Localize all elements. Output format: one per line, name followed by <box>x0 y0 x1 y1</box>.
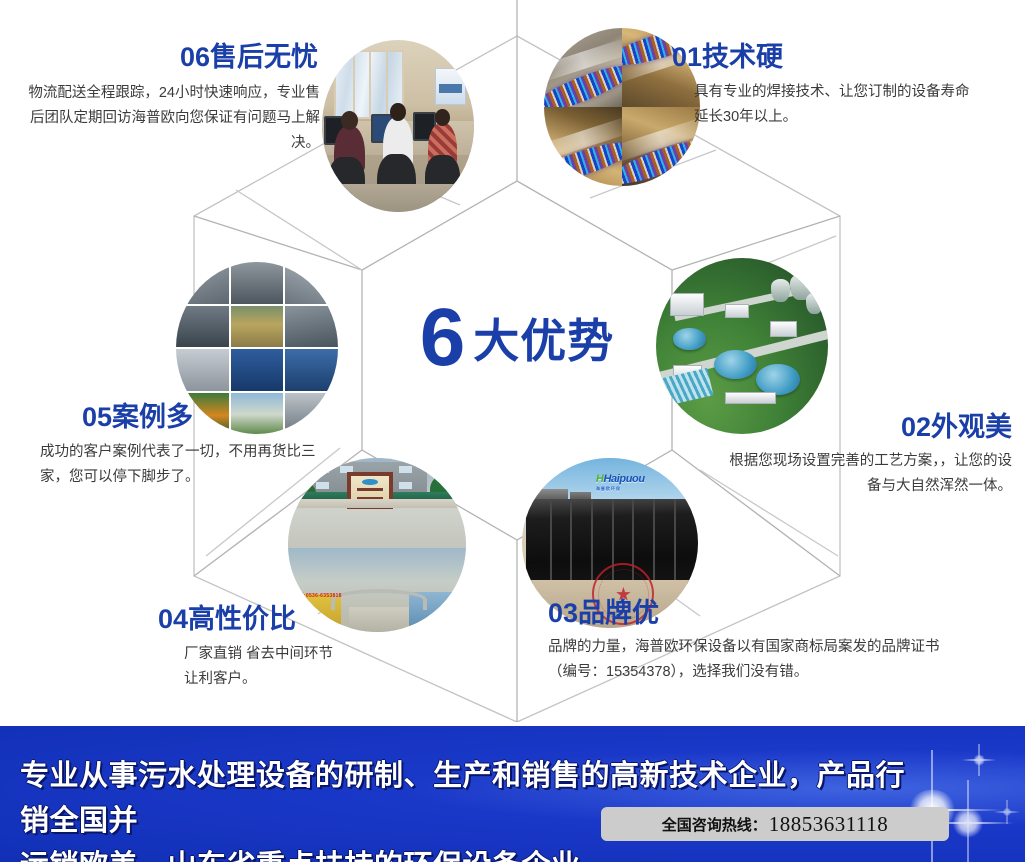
hotline-number: 18853631118 <box>769 812 888 837</box>
hotline-label: 全国咨询热线： <box>662 814 767 835</box>
advantage-06-text: 06售后无忧 物流配送全程跟踪，24小时快速响应，专业售后团队定期回访海普欧向您… <box>28 44 320 156</box>
advantage-01-text: 01技术硬 具有专业的焊接技术、让您订制的设备寿命延长30年以上。 <box>672 44 972 130</box>
advantage-02-text: 02外观美 根据您现场设置完善的工艺方案，，让您的设备与大自然浑然一体。 <box>722 414 1012 499</box>
advantage-05-body: 成功的客户案例代表了一切，不用再货比三家，您可以停下脚步了。 <box>40 440 336 490</box>
hexagon-diagram: HHaipuou 海普欧环保 <box>0 0 1025 722</box>
advantage-02-image <box>656 258 828 434</box>
advantage-04-body: 厂家直销 省去中间环节 让利客户。 <box>184 642 458 692</box>
banner-slogan-line2: 远销欧美，山东省重点扶持的环保设备企业。 <box>20 844 910 862</box>
advantage-02-heading: 02外观美 <box>722 414 1012 441</box>
advantage-03-body: 品牌的力量，海普欧环保设备以有国家商标局案发的品牌证书（编号：15354378）… <box>548 635 948 685</box>
advantage-03-text: 03品牌优 品牌的力量，海普欧环保设备以有国家商标局案发的品牌证书（编号：153… <box>548 600 948 685</box>
brand-logo-subtext: 海普欧环保 <box>596 486 645 492</box>
hotline-box[interactable]: 全国咨询热线： 18853631118 <box>601 807 949 841</box>
haipuou-brand-logo: HHaipuou 海普欧环保 <box>596 473 645 492</box>
gate-phone-text: 电话:0536-6353818 <box>293 592 341 599</box>
brand-logo-text: Haipuou <box>603 473 644 485</box>
infographic-page: HHaipuou 海普欧环保 <box>0 0 1025 862</box>
advantage-01-body: 具有专业的焊接技术、让您订制的设备寿命延长30年以上。 <box>694 80 972 130</box>
advantage-04-text: 04高性价比 厂家直销 省去中间环节 让利客户。 <box>158 606 458 692</box>
advantage-03-heading: 03品牌优 <box>548 600 948 627</box>
advantage-06-heading: 06售后无忧 <box>28 44 318 71</box>
advantage-04-body-line2: 让利客户。 <box>184 667 458 692</box>
bottom-banner: 专业从事污水处理设备的研制、生产和销售的高新技术企业，产品行销全国并 远销欧美，… <box>0 726 1025 862</box>
center-number: 6 <box>420 301 464 375</box>
advantage-06-image <box>322 40 474 212</box>
advantage-02-body: 根据您现场设置完善的工艺方案，，让您的设备与大自然浑然一体。 <box>722 449 1012 499</box>
center-title: 6 大优势 <box>392 290 642 386</box>
advantage-06-body: 物流配送全程跟踪，24小时快速响应，专业售后团队定期回访海普欧向您保证有问题马上… <box>28 81 320 156</box>
advantage-05-heading: 05案例多 <box>82 404 336 431</box>
advantage-04-body-line1: 厂家直销 省去中间环节 <box>184 642 458 667</box>
treatment-plant-rendering-icon <box>656 258 828 434</box>
advantage-01-heading: 01技术硬 <box>672 44 972 71</box>
center-label: 大优势 <box>473 305 614 371</box>
office-service-team-icon <box>322 40 474 212</box>
advantage-05-text: 05案例多 成功的客户案例代表了一切，不用再货比三家，您可以停下脚步了。 <box>40 404 336 490</box>
advantage-04-heading: 04高性价比 <box>158 606 458 633</box>
